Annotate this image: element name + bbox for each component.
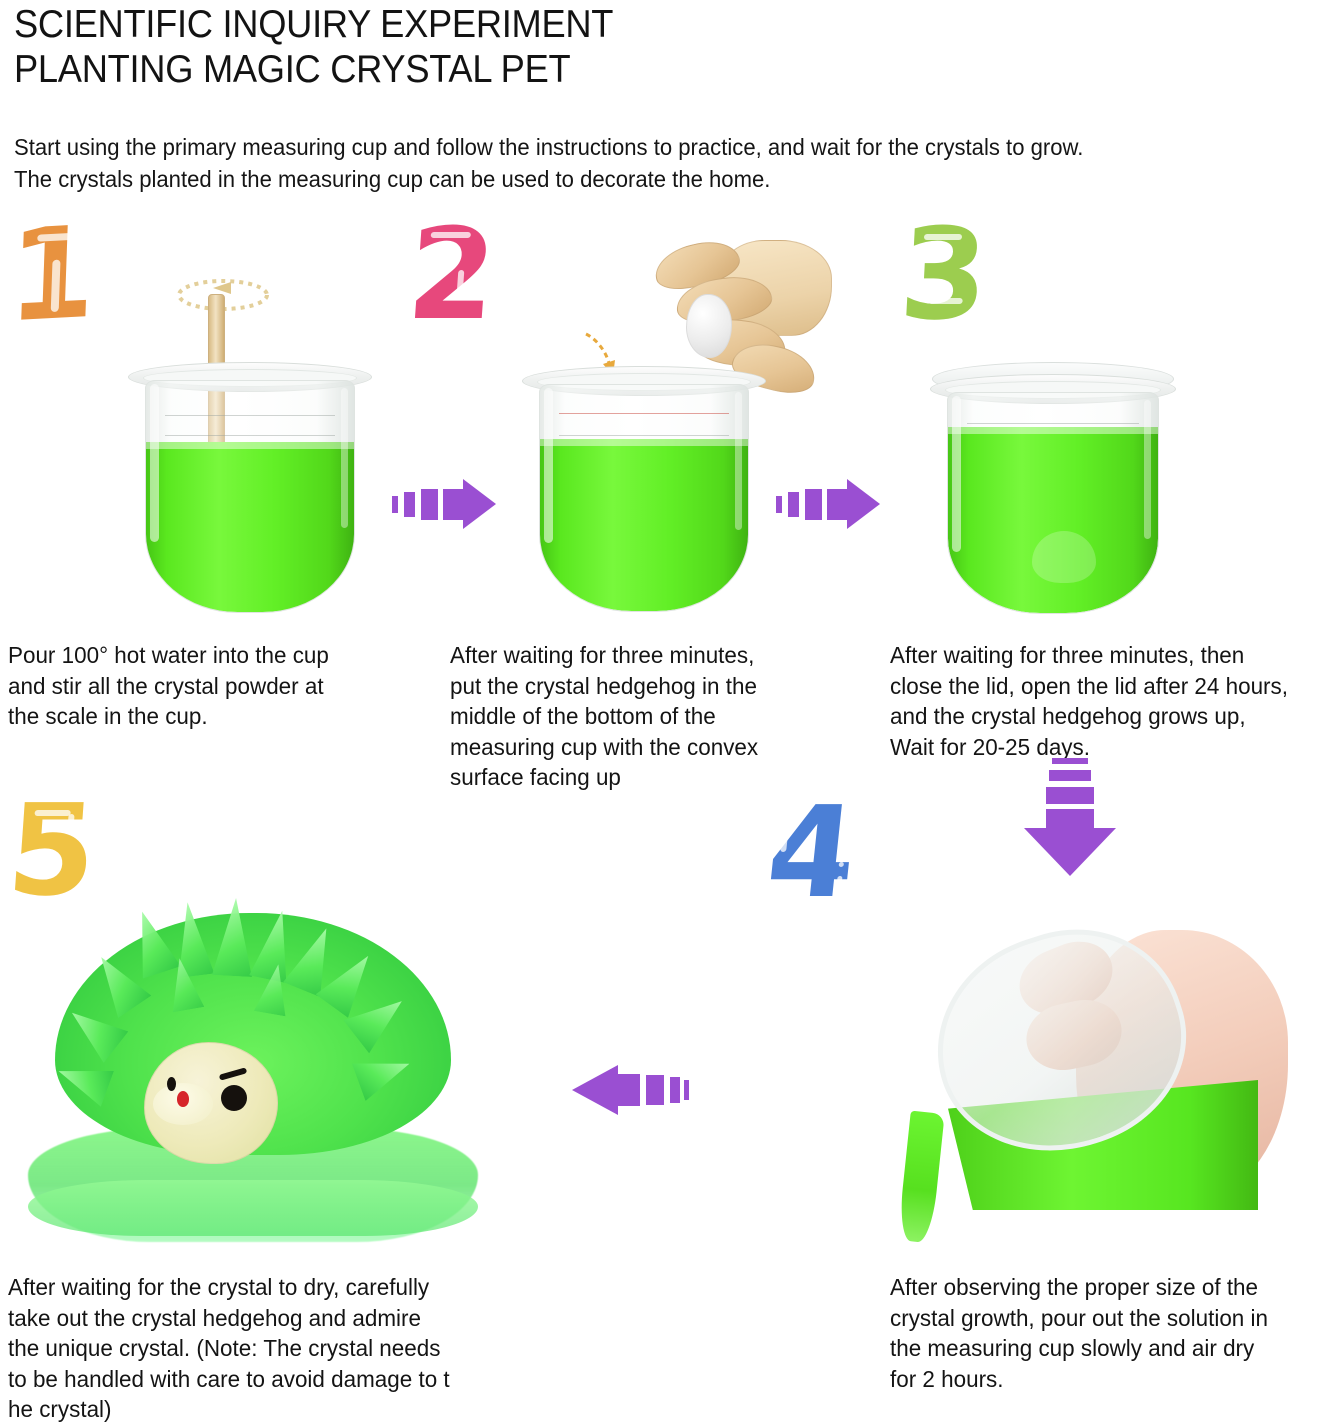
hedgehog-brow [219, 1067, 248, 1080]
cup-graphic [522, 366, 766, 616]
step3-measuring-cup-closed [930, 366, 1176, 618]
instruction-sheet: SCIENTIFIC INQUIRY EXPERIMENT PLANTING M… [0, 0, 1344, 1419]
pouring-stream [897, 1111, 944, 1244]
step1-measuring-cup [128, 362, 372, 617]
hedgehog-face [144, 1042, 278, 1164]
cup-body [947, 392, 1159, 614]
step-number-5: 5 [4, 788, 100, 914]
step-number-2: 2 [404, 212, 500, 338]
cup-graphic [128, 362, 372, 617]
step-number-1: 1 [6, 210, 98, 341]
arrow-step2-to-step3 [776, 478, 881, 530]
intro-paragraph: Start using the primary measuring cup an… [14, 131, 1255, 195]
step1-caption: Pour 100° hot water into the cup and sti… [8, 640, 409, 732]
cup-body [539, 384, 749, 612]
hedgehog-eye-left [167, 1077, 176, 1091]
step5-caption: After waiting for the crystal to dry, ca… [8, 1272, 505, 1425]
cup-liquid [540, 439, 748, 611]
cup-liquid [948, 427, 1158, 613]
submerged-hedgehog-silhouette [1032, 531, 1096, 583]
cup-body [145, 380, 355, 613]
step4-caption: After observing the proper size of the c… [890, 1272, 1320, 1394]
cup-graphic [930, 366, 1176, 618]
arrow-step1-to-step2 [392, 478, 497, 530]
crystal-frill [28, 1180, 478, 1236]
step-number-3: 3 [897, 212, 991, 338]
step-number-4: 4 [761, 790, 862, 916]
step2-caption: After waiting for three minutes, put the… [450, 640, 861, 793]
arrow-step3-to-step4 [1018, 758, 1122, 880]
hedgehog-eye-right [221, 1085, 247, 1111]
page-title: SCIENTIFIC INQUIRY EXPERIMENT PLANTING M… [14, 2, 851, 92]
step2-measuring-cup [522, 366, 766, 616]
arrow-step4-to-step5 [570, 1062, 690, 1118]
cup-liquid [146, 442, 354, 612]
step3-caption: After waiting for three minutes, then cl… [890, 640, 1320, 762]
step5-crystal-hedgehog [28, 906, 478, 1242]
step4-pour-illustration [900, 912, 1320, 1252]
hedgehog-nose [177, 1091, 189, 1107]
crystal-hedgehog-figure [686, 294, 732, 358]
